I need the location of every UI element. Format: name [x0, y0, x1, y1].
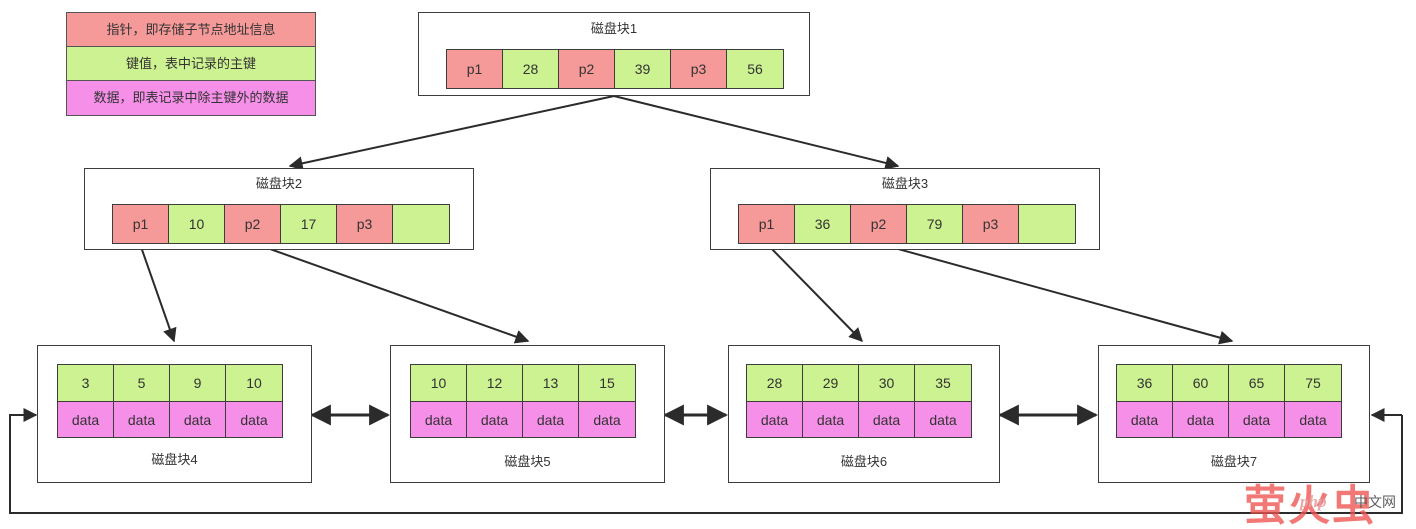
legend-item-data: 数据，即表记录中除主键外的数据: [67, 81, 315, 115]
cell-block2-k3: [393, 205, 449, 243]
node-block6-title: 磁盘块6: [728, 452, 1000, 472]
node-block6-keys-row: 28 29 30 35: [747, 365, 971, 401]
node-block2-cells: p1 10 p2 17 p3: [112, 204, 450, 244]
node-block7-keys-row: 36 60 65 75: [1117, 365, 1341, 401]
cell-block7-data-4: data: [1285, 401, 1341, 437]
cell-block5-key-3: 13: [523, 365, 579, 401]
cell-block4-data-3: data: [170, 401, 226, 437]
cell-block4-data-1: data: [58, 401, 114, 437]
edge-block3-p1-to-block6: [767, 244, 862, 341]
node-block3-cells: p1 36 p2 79 p3: [738, 204, 1076, 244]
cell-block1-k2: 39: [615, 50, 671, 88]
cell-block5-key-1: 10: [411, 365, 467, 401]
node-block4-title: 磁盘块4: [37, 450, 312, 470]
cell-block1-k3: 56: [727, 50, 783, 88]
node-block5-title: 磁盘块5: [390, 452, 665, 472]
cell-block5-data-1: data: [411, 401, 467, 437]
cell-block4-key-3: 9: [170, 365, 226, 401]
cell-block4-data-4: data: [226, 401, 282, 437]
cell-block7-key-3: 65: [1229, 365, 1285, 401]
node-block5-data-row: data data data data: [411, 401, 635, 437]
legend: 指针，即存储子节点地址信息 键值，表中记录的主键 数据，即表记录中除主键外的数据: [66, 12, 316, 116]
cell-block6-data-1: data: [747, 401, 803, 437]
cell-block2-p2: p2: [225, 205, 281, 243]
node-block2-title: 磁盘块2: [85, 174, 473, 194]
node-block5-keys-row: 10 12 13 15: [411, 365, 635, 401]
cell-block5-key-2: 12: [467, 365, 523, 401]
cell-block5-key-4: 15: [579, 365, 635, 401]
cell-block7-key-2: 60: [1173, 365, 1229, 401]
edge-block2-p2-to-block5: [256, 244, 528, 341]
legend-item-key: 键值，表中记录的主键: [67, 47, 315, 81]
cell-block7-key-1: 36: [1117, 365, 1173, 401]
cell-block4-key-4: 10: [226, 365, 282, 401]
edge-root-to-block3: [614, 96, 898, 166]
cell-block6-data-3: data: [859, 401, 915, 437]
node-block4-keys-row: 3 5 9 10: [58, 365, 282, 401]
node-block3-title: 磁盘块3: [711, 174, 1099, 194]
node-block4-grid: 3 5 9 10 data data data data: [57, 364, 283, 438]
cell-block7-data-2: data: [1173, 401, 1229, 437]
edge-block2-p1-to-block4: [140, 244, 174, 341]
edge-block3-p2-to-block7: [880, 244, 1232, 341]
cell-block6-data-4: data: [915, 401, 971, 437]
watermark-php-logo: php: [1300, 492, 1326, 512]
node-block5-grid: 10 12 13 15 data data data data: [410, 364, 636, 438]
cell-block2-k2: 17: [281, 205, 337, 243]
cell-block6-key-4: 35: [915, 365, 971, 401]
cell-block2-p3: p3: [337, 205, 393, 243]
cell-block7-data-3: data: [1229, 401, 1285, 437]
cell-block4-data-2: data: [114, 401, 170, 437]
cell-block6-key-1: 28: [747, 365, 803, 401]
node-block7-grid: 36 60 65 75 data data data data: [1116, 364, 1342, 438]
node-block6-grid: 28 29 30 35 data data data data: [746, 364, 972, 438]
cell-block6-data-2: data: [803, 401, 859, 437]
edge-root-to-block2: [290, 96, 614, 166]
cell-block1-k1: 28: [503, 50, 559, 88]
cell-block5-data-4: data: [579, 401, 635, 437]
cell-block1-p2: p2: [559, 50, 615, 88]
cell-block7-key-4: 75: [1285, 365, 1341, 401]
cell-block2-p1: p1: [113, 205, 169, 243]
cell-block4-key-1: 3: [58, 365, 114, 401]
cell-block7-data-1: data: [1117, 401, 1173, 437]
cell-block3-p1: p1: [739, 205, 795, 243]
cell-block5-data-3: data: [523, 401, 579, 437]
cell-block3-k1: 36: [795, 205, 851, 243]
node-block7-data-row: data data data data: [1117, 401, 1341, 437]
cell-block3-k2: 79: [907, 205, 963, 243]
cell-block3-p3: p3: [963, 205, 1019, 243]
cell-block3-k3: [1019, 205, 1075, 243]
cell-block3-p2: p2: [851, 205, 907, 243]
watermark-site-label: 中文网: [1354, 492, 1396, 512]
node-block1-cells: p1 28 p2 39 p3 56: [446, 49, 784, 89]
cell-block1-p3: p3: [671, 50, 727, 88]
node-block7-title: 磁盘块7: [1098, 452, 1370, 472]
cell-block2-k1: 10: [169, 205, 225, 243]
cell-block6-key-2: 29: [803, 365, 859, 401]
cell-block6-key-3: 30: [859, 365, 915, 401]
node-block6-data-row: data data data data: [747, 401, 971, 437]
node-block4-data-row: data data data data: [58, 401, 282, 437]
cell-block1-p1: p1: [447, 50, 503, 88]
node-block1-title: 磁盘块1: [419, 19, 809, 39]
cell-block4-key-2: 5: [114, 365, 170, 401]
cell-block5-data-2: data: [467, 401, 523, 437]
legend-item-pointer: 指针，即存储子节点地址信息: [67, 13, 315, 47]
bplus-tree-diagram: 指针，即存储子节点地址信息 键值，表中记录的主键 数据，即表记录中除主键外的数据…: [0, 0, 1416, 529]
